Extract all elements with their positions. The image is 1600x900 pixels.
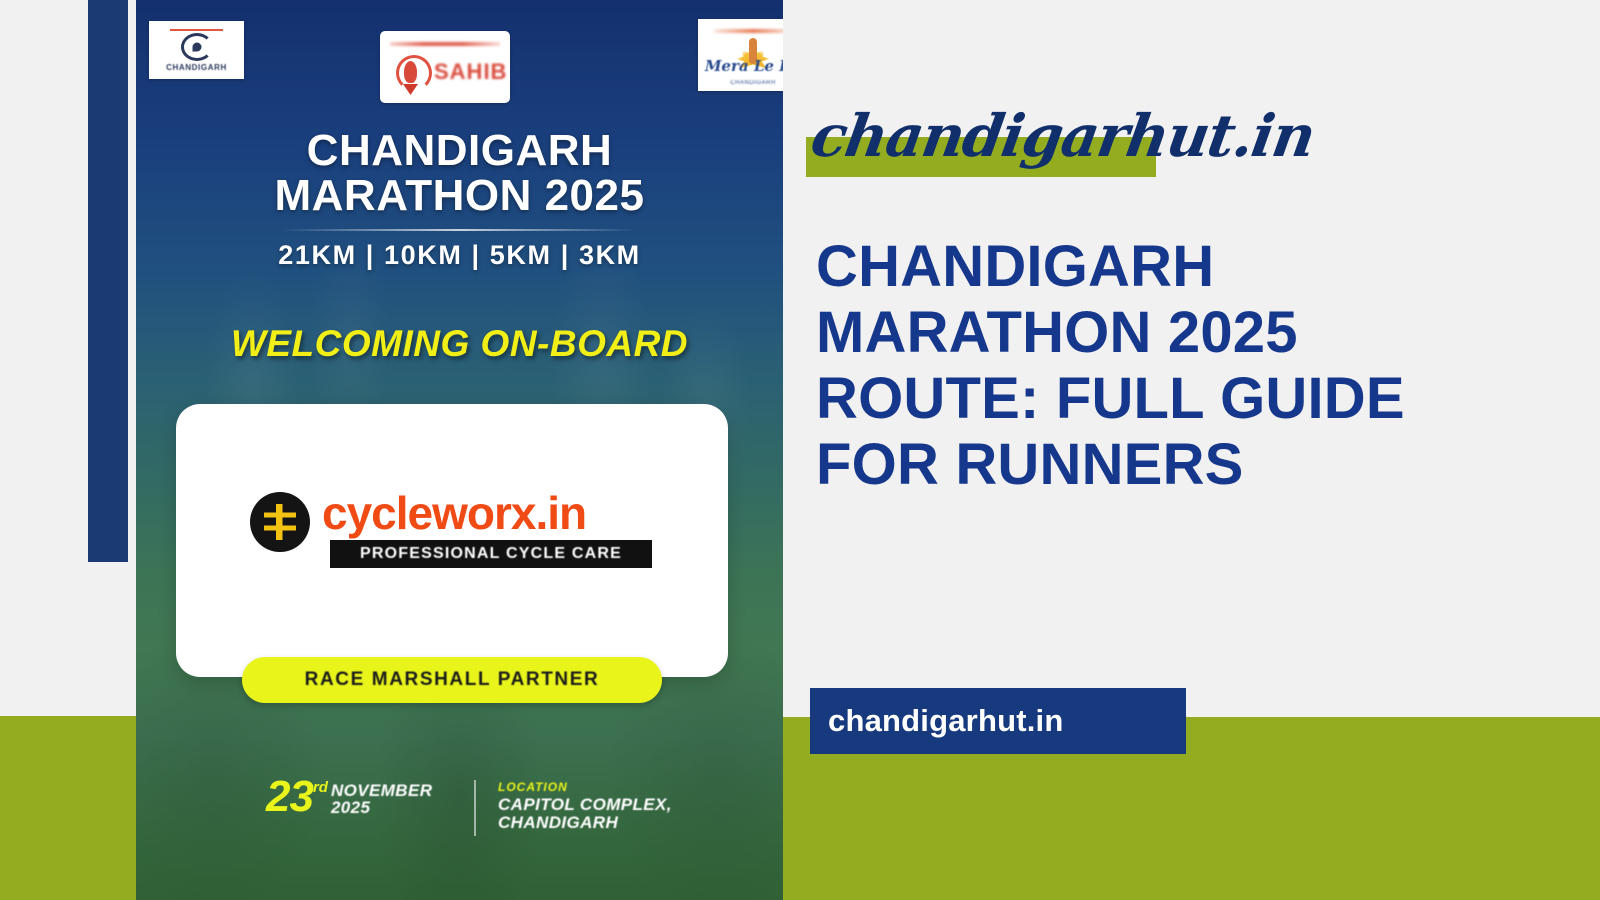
location-line-2: CHANDIGARH [498,814,672,832]
cycleworx-logo: cycleworx.in PROFESSIONAL CYCLE CARE [250,486,654,572]
poster-divider [282,229,637,231]
race-marshall-partner-label: RACE MARSHALL PARTNER [305,669,600,691]
sponsor-right-subtext: CHANDIGARH [698,80,783,86]
sponsor-logo-right: Mera Le Re CHANDIGARH [698,19,783,91]
sponsor-center-rule-icon [390,42,500,46]
poster-title-line-2: MARATHON 2025 [136,174,783,219]
navy-accent-bar [88,0,128,562]
poster-footer: 23 rd NOVEMBER 2025 LOCATION CAPITOL COM… [266,778,686,858]
sponsor-right-script: Mera Le Re [698,57,783,75]
event-date-month: NOVEMBER [331,781,432,800]
partner-logo-card: cycleworx.in PROFESSIONAL CYCLE CARE [176,404,728,677]
sponsor-right-rule-icon [714,29,783,33]
footer-divider [474,780,476,836]
sponsor-rule-icon [170,29,223,31]
site-url-label: chandigarhut.in [828,703,1064,739]
flame-emblem-icon [394,55,428,95]
cycleworx-wordmark: cycleworx.in [322,486,586,540]
poster-welcome-text: WELCOMING ON-BOARD [136,323,783,365]
cycleworx-tagline-strip: PROFESSIONAL CYCLE CARE [330,540,652,568]
poster-distances: 21KM | 10KM | 5KM | 3KM [136,240,783,271]
cycleworx-tld: .in [535,487,586,539]
cycleworx-emblem-icon [250,492,310,552]
circle-emblem-dot-icon [192,42,201,51]
sponsor-logo-left: CHANDIGARH [149,21,244,79]
location-value: CAPITOL COMPLEX, CHANDIGARH [498,796,672,833]
brand-logo[interactable]: chandigarhut.in [806,96,1206,188]
site-url-badge[interactable]: chandigarhut.in [810,688,1186,754]
location-line-1: CAPITOL COMPLEX, [498,795,672,814]
event-date-suffix: rd [313,779,328,796]
event-date-number: 23 [266,778,313,817]
poster-title-line-1: CHANDIGARH [307,126,613,175]
sponsor-logo-center: SAHIB [380,31,510,103]
page-canvas: CHANDIGARH SAHIB Mera Le Re CHANDIGARH C… [0,0,1600,900]
sponsor-left-wordmark: CHANDIGARH [149,63,244,72]
sponsor-center-wordmark: SAHIB [434,59,507,85]
poster-event-date: 23 rd NOVEMBER 2025 [266,778,474,817]
marathon-poster-image: CHANDIGARH SAHIB Mera Le Re CHANDIGARH C… [136,0,783,900]
olive-band-left [0,716,136,900]
cycleworx-tagline: PROFESSIONAL CYCLE CARE [360,545,622,563]
cycleworx-name: cycleworx [322,487,535,539]
poster-title: CHANDIGARH MARATHON 2025 [136,129,783,219]
brand-logo-text: chandigarhut.in [807,102,1319,170]
event-date-year: 2025 [331,799,432,816]
poster-event-location: LOCATION CAPITOL COMPLEX, CHANDIGARH [498,778,672,833]
page-title: Chandigarh Marathon 2025 Route: Full Gui… [816,234,1436,498]
event-date-monthyear: NOVEMBER 2025 [331,782,432,817]
location-label: LOCATION [498,780,672,794]
race-marshall-partner-badge: RACE MARSHALL PARTNER [242,657,662,703]
